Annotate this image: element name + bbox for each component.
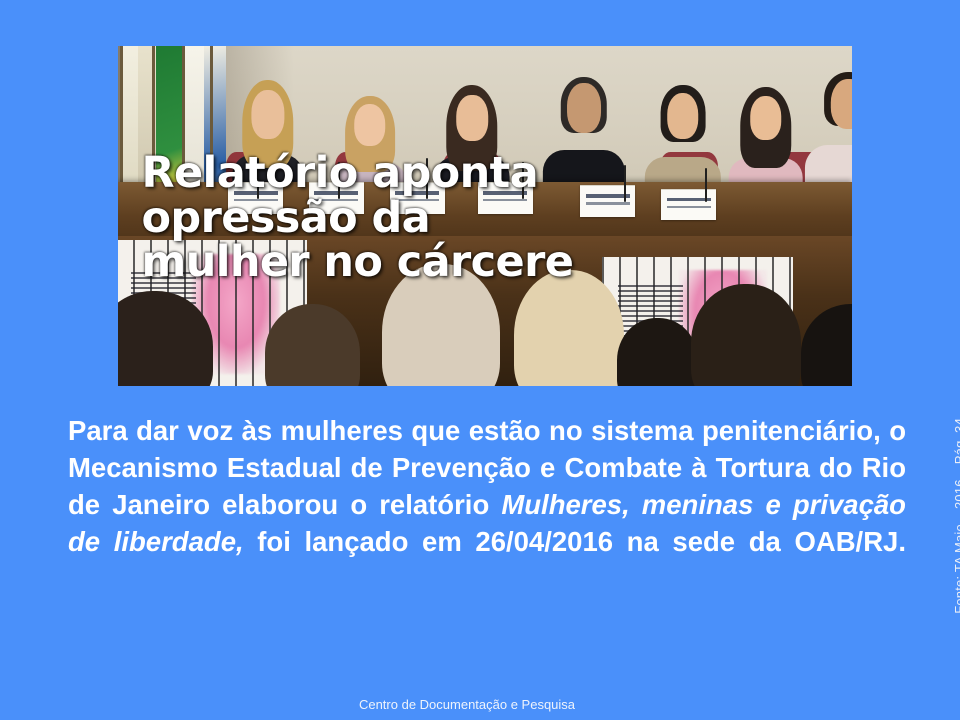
panelist-5-head <box>667 93 699 139</box>
audience-head-4 <box>514 270 624 386</box>
audience-head-2 <box>265 304 360 386</box>
press-conference-photo: Relatório aponta opressão da mulher no c… <box>118 46 852 386</box>
headline-line-2: opressão da <box>141 196 714 240</box>
panelist-1-head <box>251 90 284 139</box>
slide-body-text: Para dar voz às mulheres que estão no si… <box>68 412 906 597</box>
body-paragraph: Para dar voz às mulheres que estão no si… <box>68 412 906 597</box>
slide-footer: Centro de Documentação e Pesquisa <box>0 697 960 712</box>
headline-line-3: mulher no cárcere <box>141 240 714 284</box>
footer-label: Centro de Documentação e Pesquisa <box>359 697 601 712</box>
panelist-7-head <box>831 79 852 130</box>
source-credit: Fonte: TA Maio – 2016 – Pág. 34 <box>952 418 960 638</box>
panelist-2-head <box>354 104 386 147</box>
audience-head-6 <box>691 284 801 386</box>
headline-line-1: Relatório aponta <box>141 151 714 195</box>
body-segment-2: foi lançado em 26/04/2016 na sede da OAB… <box>244 526 906 557</box>
panelist-3-head <box>456 95 488 141</box>
panelist-4-head <box>567 83 601 133</box>
slide-canvas: Relatório aponta opressão da mulher no c… <box>0 0 960 720</box>
photo-inner: Relatório aponta opressão da mulher no c… <box>118 46 852 386</box>
photo-headline: Relatório aponta opressão da mulher no c… <box>141 151 714 284</box>
panelist-6-head <box>750 96 782 140</box>
